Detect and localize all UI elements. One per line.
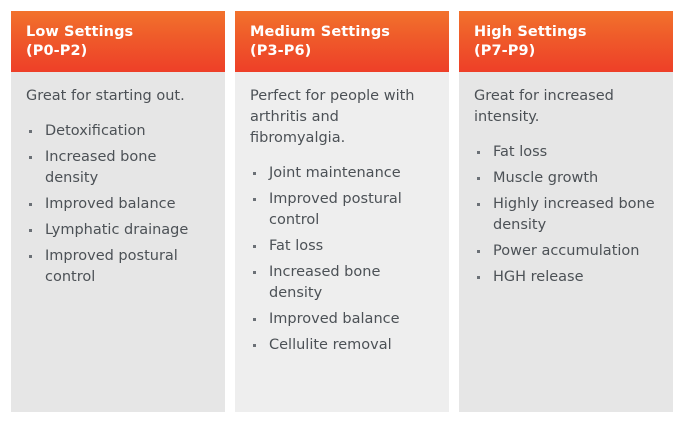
bullet-icon <box>29 130 32 133</box>
list-item: Increased bone density <box>250 262 435 304</box>
benefit-label: Fat loss <box>269 238 323 254</box>
card-title-medium: Medium Settings <box>250 23 434 42</box>
card-body-low: Great for starting out. Detoxification I… <box>11 72 225 412</box>
card-title-low: Low Settings <box>26 23 210 42</box>
card-intro-high: Great for increased intensity. <box>474 86 659 128</box>
settings-comparison-board: Low Settings (P0-P2) Great for starting … <box>11 11 673 412</box>
benefit-label: Detoxification <box>45 123 146 139</box>
list-item: Lymphatic drainage <box>26 220 211 241</box>
list-item: Power accumulation <box>474 241 659 262</box>
card-intro-medium: Perfect for people with arthritis and fi… <box>250 86 435 149</box>
bullet-icon <box>29 156 32 159</box>
card-header-high: High Settings (P7-P9) <box>459 11 673 72</box>
benefit-label: Muscle growth <box>493 170 598 186</box>
benefit-list-medium: Joint maintenance Improved postural cont… <box>250 163 435 356</box>
bullet-icon <box>29 255 32 258</box>
card-title-high: High Settings <box>474 23 658 42</box>
benefit-label: Power accumulation <box>493 243 639 259</box>
benefit-label: Highly increased bone density <box>493 196 655 233</box>
settings-card-high: High Settings (P7-P9) Great for increase… <box>459 11 673 412</box>
benefit-list-high: Fat loss Muscle growth Highly increased … <box>474 142 659 288</box>
benefit-label: Increased bone density <box>269 264 380 301</box>
benefit-label: Increased bone density <box>45 149 156 186</box>
list-item: Highly increased bone density <box>474 194 659 236</box>
bullet-icon <box>477 276 480 279</box>
list-item: Muscle growth <box>474 168 659 189</box>
list-item: Fat loss <box>474 142 659 163</box>
benefit-label: Improved balance <box>269 311 400 327</box>
list-item: Increased bone density <box>26 147 211 189</box>
bullet-icon <box>29 229 32 232</box>
card-body-high: Great for increased intensity. Fat loss … <box>459 72 673 412</box>
list-item: Cellulite removal <box>250 335 435 356</box>
benefit-label: Improved postural control <box>269 191 402 228</box>
bullet-icon <box>477 250 480 253</box>
card-range-low: (P0-P2) <box>26 42 210 61</box>
settings-card-medium: Medium Settings (P3-P6) Perfect for peop… <box>235 11 449 412</box>
benefit-list-low: Detoxification Increased bone density Im… <box>26 121 211 288</box>
card-range-medium: (P3-P6) <box>250 42 434 61</box>
list-item: Joint maintenance <box>250 163 435 184</box>
benefit-label: Improved balance <box>45 196 176 212</box>
bullet-icon <box>477 151 480 154</box>
list-item: HGH release <box>474 267 659 288</box>
benefit-label: Fat loss <box>493 144 547 160</box>
benefit-label: HGH release <box>493 269 584 285</box>
bullet-icon <box>477 203 480 206</box>
list-item: Improved balance <box>250 309 435 330</box>
bullet-icon <box>253 271 256 274</box>
list-item: Fat loss <box>250 236 435 257</box>
list-item: Improved postural control <box>250 189 435 231</box>
list-item: Improved postural control <box>26 246 211 288</box>
list-item: Detoxification <box>26 121 211 142</box>
bullet-icon <box>253 172 256 175</box>
bullet-icon <box>253 198 256 201</box>
benefit-label: Improved postural control <box>45 248 178 285</box>
bullet-icon <box>477 177 480 180</box>
card-header-low: Low Settings (P0-P2) <box>11 11 225 72</box>
bullet-icon <box>29 203 32 206</box>
card-intro-low: Great for starting out. <box>26 86 211 107</box>
bullet-icon <box>253 245 256 248</box>
benefit-label: Cellulite removal <box>269 337 392 353</box>
card-range-high: (P7-P9) <box>474 42 658 61</box>
card-body-medium: Perfect for people with arthritis and fi… <box>235 72 449 412</box>
settings-card-low: Low Settings (P0-P2) Great for starting … <box>11 11 225 412</box>
benefit-label: Joint maintenance <box>269 165 401 181</box>
card-header-medium: Medium Settings (P3-P6) <box>235 11 449 72</box>
bullet-icon <box>253 318 256 321</box>
bullet-icon <box>253 344 256 347</box>
benefit-label: Lymphatic drainage <box>45 222 188 238</box>
list-item: Improved balance <box>26 194 211 215</box>
